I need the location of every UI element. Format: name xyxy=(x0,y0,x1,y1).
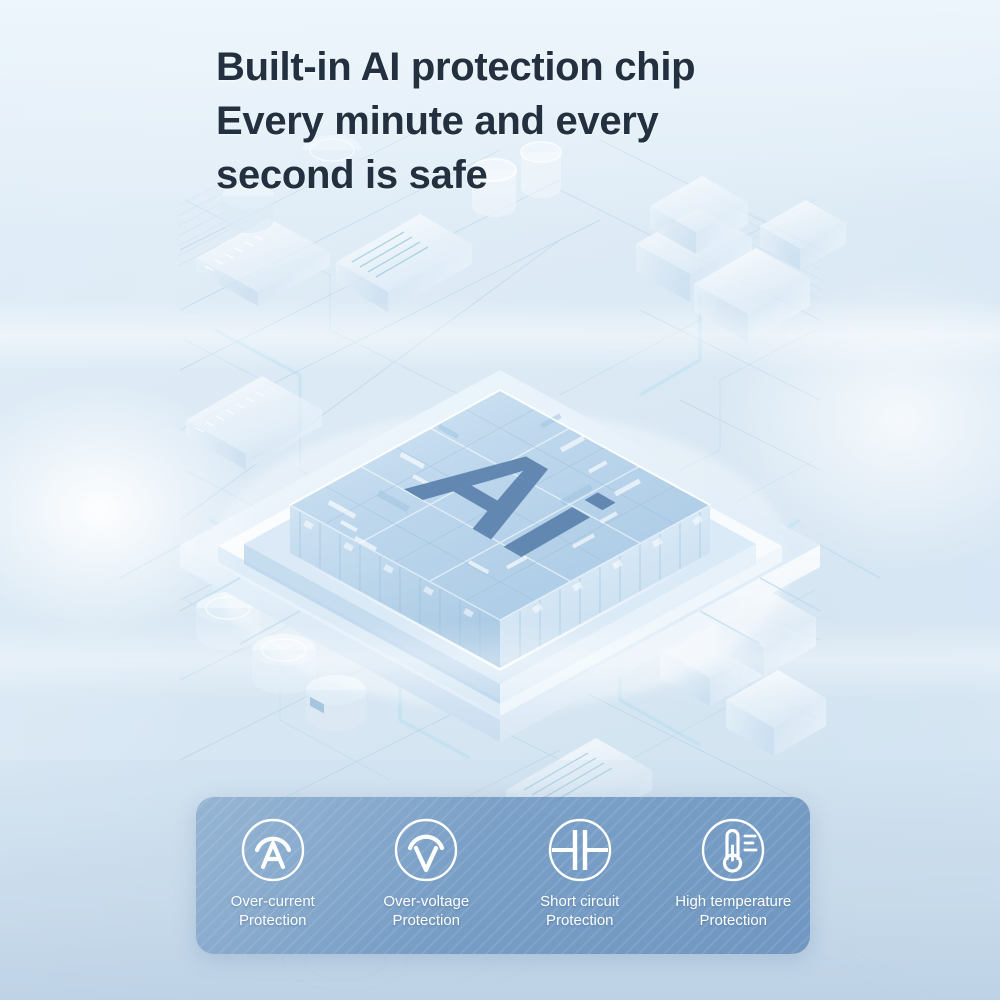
feature-label: High temperature Protection xyxy=(675,892,791,930)
feature-label: Over-current Protection xyxy=(231,892,315,930)
short-circuit-icon xyxy=(546,816,614,884)
page-title: Built-in AI protection chip Every minute… xyxy=(216,40,836,202)
poster-canvas: Ai Built-in AI protection chi xyxy=(0,0,1000,1000)
feature-label: Short circuit Protection xyxy=(540,892,619,930)
high-temperature-icon xyxy=(699,816,767,884)
feature-over-voltage[interactable]: Over-voltage Protection xyxy=(350,797,504,930)
feature-label: Over-voltage Protection xyxy=(383,892,469,930)
feature-over-current[interactable]: Over-current Protection xyxy=(196,797,350,930)
over-current-icon xyxy=(239,816,307,884)
over-voltage-icon xyxy=(392,816,460,884)
feature-short-circuit[interactable]: Short circuit Protection xyxy=(503,797,657,930)
feature-high-temperature[interactable]: High temperature Protection xyxy=(657,797,811,930)
protection-features-panel: Over-current Protection Over-voltage Pro… xyxy=(196,797,810,954)
